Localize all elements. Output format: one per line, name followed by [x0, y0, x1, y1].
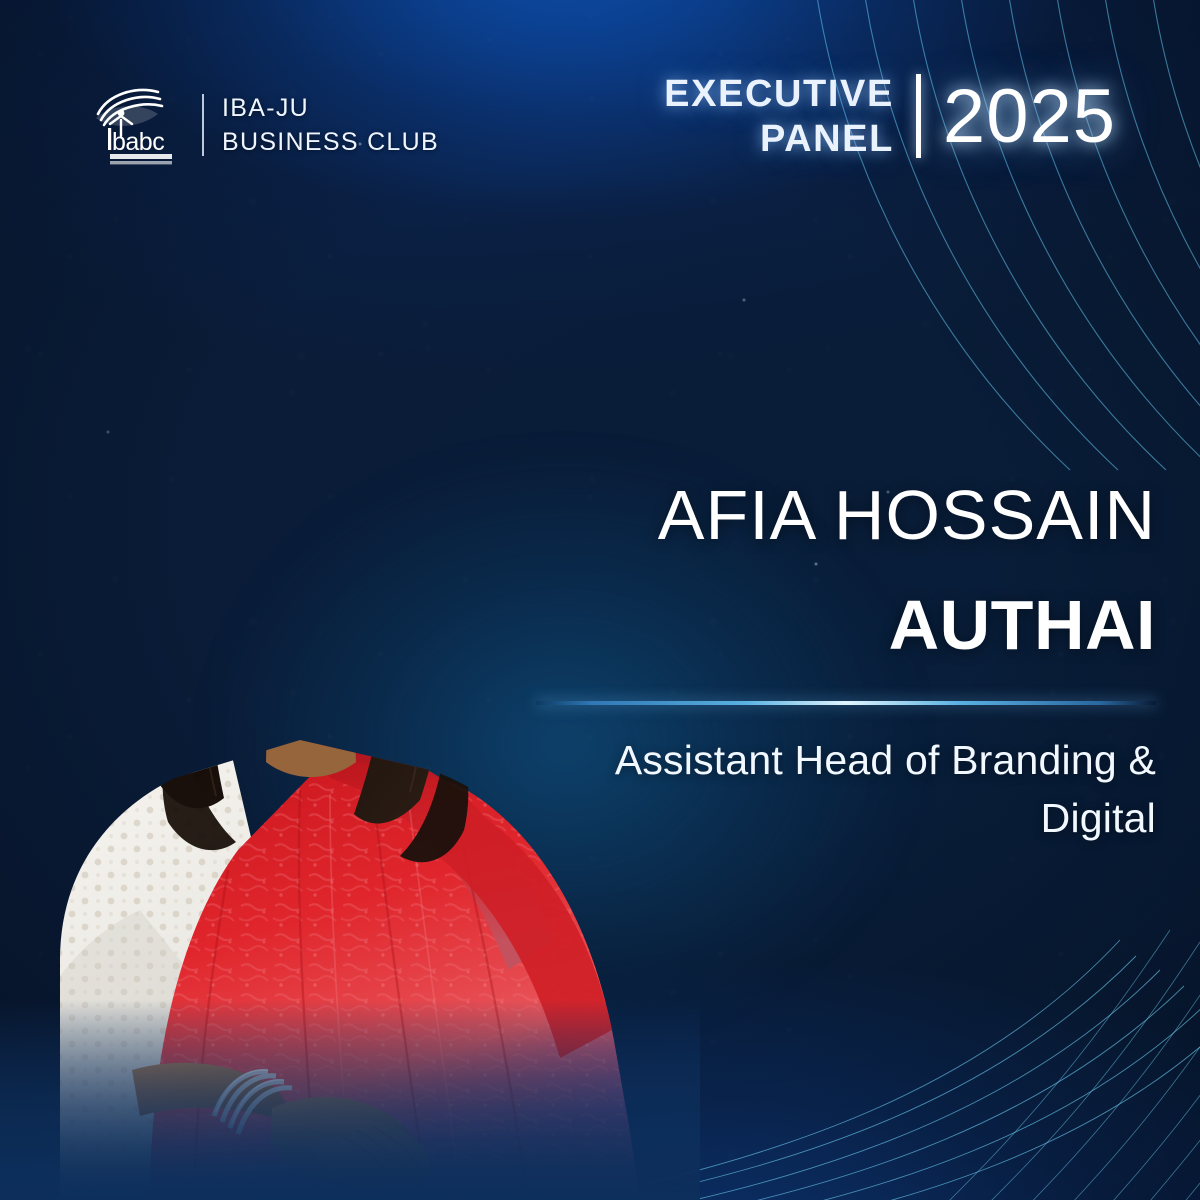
brand-logo-block[interactable]: babc IBA-JU BUSINESS CLUB	[88, 84, 439, 166]
person-info-block: AFIA HOSSAIN AUTHAI Assistant Head of Br…	[536, 478, 1156, 848]
person-name-first: AFIA HOSSAIN	[536, 478, 1156, 554]
panel-title: EXECUTIVE PANEL	[664, 72, 916, 162]
glow-divider	[536, 701, 1156, 705]
ibabc-logo-icon: babc	[88, 84, 184, 166]
executive-panel-poster: babc IBA-JU BUSINESS CLUB EXECUTIVE PANE…	[0, 0, 1200, 1200]
panel-title-line-1: EXECUTIVE	[664, 72, 894, 117]
svg-text:babc: babc	[112, 128, 164, 156]
executive-panel-header: EXECUTIVE PANEL 2025	[664, 72, 1116, 162]
org-line-2: BUSINESS CLUB	[222, 129, 439, 156]
logo-divider	[202, 94, 204, 156]
person-role: Assistant Head of Branding & Digital	[536, 731, 1156, 847]
person-name-last: AUTHAI	[536, 588, 1156, 664]
panel-year: 2025	[921, 72, 1116, 162]
panel-title-line-2: PANEL	[760, 117, 894, 162]
org-line-1: IBA-JU	[222, 95, 439, 122]
organization-name: IBA-JU BUSINESS CLUB	[222, 95, 439, 155]
